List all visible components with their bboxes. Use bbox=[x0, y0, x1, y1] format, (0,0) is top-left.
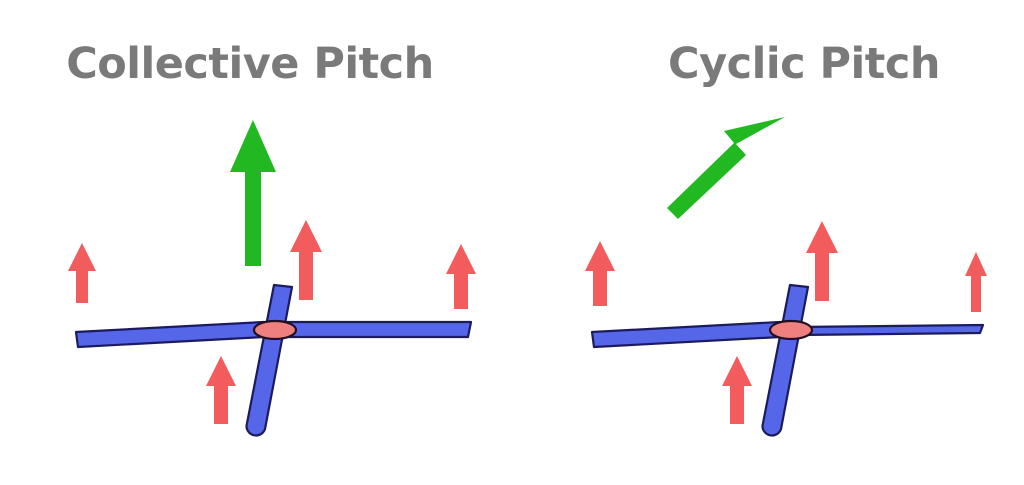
lift-arrow-center bbox=[290, 220, 322, 300]
lift-arrow-outer-right bbox=[965, 252, 987, 312]
lift-arrow-inner-left bbox=[722, 356, 752, 424]
collective-pitch-illustration bbox=[0, 0, 512, 485]
resultant-lift-arrow bbox=[230, 120, 276, 266]
lift-arrow-inner-left bbox=[206, 356, 236, 424]
lift-arrow-outer-left bbox=[68, 243, 96, 303]
panel-cyclic-pitch: Cyclic Pitch bbox=[512, 0, 1024, 485]
lift-arrow-outer-left bbox=[585, 241, 615, 306]
lift-arrow-outer-right bbox=[446, 244, 476, 309]
panel-collective-pitch: Collective Pitch bbox=[0, 0, 512, 485]
lift-arrow-center bbox=[806, 221, 838, 301]
pitch-diagram-figure: Collective Pitch bbox=[0, 0, 1024, 485]
resultant-lift-arrow bbox=[667, 117, 785, 219]
left-blade bbox=[76, 322, 264, 347]
cyclic-pitch-illustration bbox=[512, 0, 1024, 485]
right-blade bbox=[797, 325, 983, 335]
near-blade bbox=[762, 285, 808, 435]
right-blade bbox=[281, 322, 471, 337]
near-blade bbox=[246, 285, 292, 435]
rotor-hub bbox=[254, 321, 296, 339]
left-blade bbox=[592, 322, 780, 347]
rotor-hub bbox=[770, 321, 812, 339]
